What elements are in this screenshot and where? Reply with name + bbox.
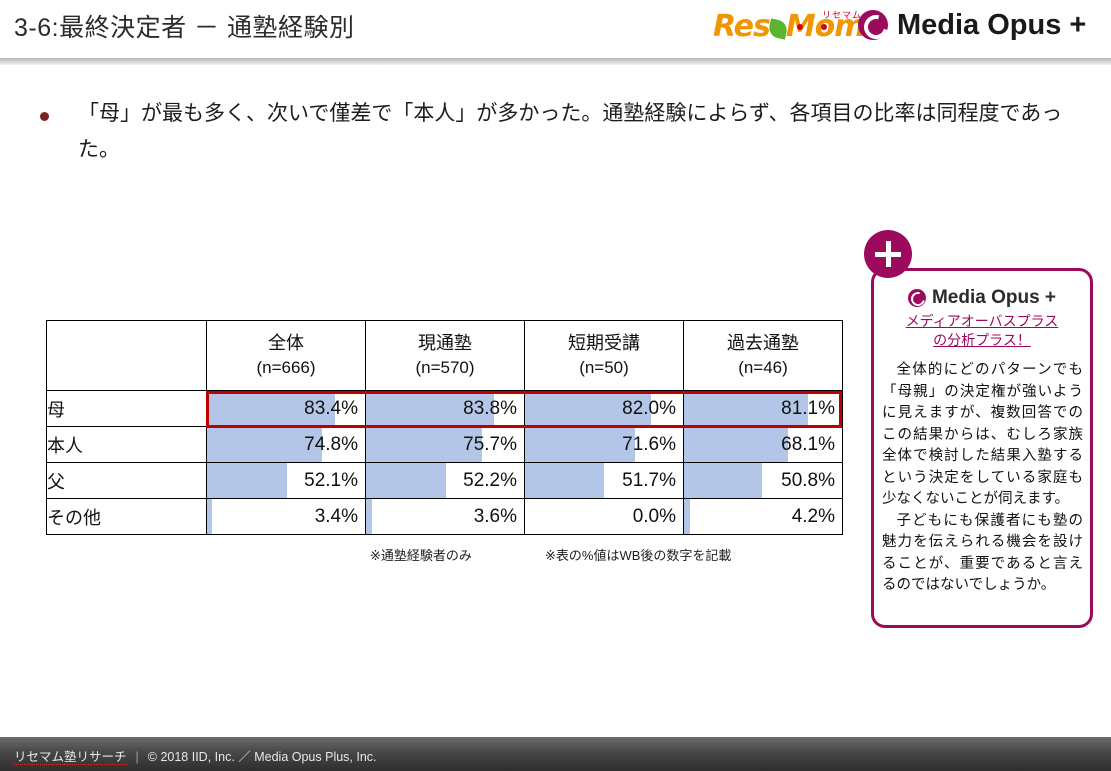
slide-root: 3-6:最終決定者 － 通塾経験別 ResMom リセマム Media Opus…	[0, 0, 1111, 771]
table-cell: 0.0%	[525, 499, 684, 535]
table-cell: 74.8%	[207, 427, 366, 463]
cell-value: 83.4%	[207, 392, 365, 425]
col-n: (n=666)	[207, 356, 365, 381]
cell-value: 81.1%	[684, 392, 842, 425]
resemom-logo-text: Res	[713, 9, 770, 44]
page-title: 3-6:最終決定者 － 通塾経験別	[14, 8, 354, 44]
footer-separator: |	[136, 750, 139, 764]
panel-paragraph-2: 子どもにも保護者にも塾の魅力を伝えられる機会を設けることが、重要であると言えるの…	[882, 511, 1083, 597]
table-cell: 3.4%	[207, 499, 366, 535]
cell-value: 75.7%	[366, 428, 524, 461]
col-label: 全体	[268, 333, 304, 353]
table-cell: 68.1%	[684, 427, 843, 463]
row-label: 本人	[47, 427, 207, 463]
table-cell: 3.6%	[366, 499, 525, 535]
footer-brand: リセマム塾リサーチ	[14, 750, 127, 765]
analysis-panel: Media Opus + メディアオーバスプラス の分析プラス！ 全体的にどのパ…	[871, 268, 1093, 628]
table-header-col-0: 全体 (n=666)	[207, 321, 366, 391]
table-header-col-1: 現通塾 (n=570)	[366, 321, 525, 391]
media-opus-logo: Media Opus +	[858, 10, 1086, 40]
table-header-col-2: 短期受講 (n=50)	[525, 321, 684, 391]
row-label: 父	[47, 463, 207, 499]
table-cell: 4.2%	[684, 499, 843, 535]
cell-value: 3.6%	[366, 500, 524, 533]
cell-value: 74.8%	[207, 428, 365, 461]
resemom-logo-text-2: M	[786, 9, 815, 44]
table-cell: 50.8%	[684, 463, 843, 499]
table-header-row: 全体 (n=666) 現通塾 (n=570) 短期受講 (n=50) 過去通塾 …	[47, 321, 843, 391]
table-note-2: ※表の%値はWB後の数字を記載	[545, 545, 731, 564]
table-row: その他 3.4% 3.6% 0.0% 4.2%	[47, 499, 843, 535]
panel-body: 全体的にどのパターンでも「母親」の決定権が強いように見えますが、複数回答でのこの…	[882, 360, 1083, 597]
col-label: 現通塾	[418, 333, 472, 353]
row-label: その他	[47, 499, 207, 535]
cell-value: 4.2%	[684, 500, 842, 533]
panel-link-line-2: の分析プラス！	[933, 332, 1031, 348]
panel-title: Media Opus +	[932, 287, 1056, 309]
table-cell: 75.7%	[366, 427, 525, 463]
cell-value: 82.0%	[525, 392, 683, 425]
footer-text: リセマム塾リサーチ|© 2018 IID, Inc. ／ Media Opus …	[14, 746, 377, 765]
footer-bar: リセマム塾リサーチ|© 2018 IID, Inc. ／ Media Opus …	[0, 737, 1111, 771]
table-cell: 71.6%	[525, 427, 684, 463]
col-label: 過去通塾	[727, 333, 799, 353]
header-divider	[0, 58, 1111, 65]
table-row: 父 52.1% 52.2% 51.7% 50.8%	[47, 463, 843, 499]
table-body: 母 83.4% 83.8% 82.0% 81.1% 本人 74.8% 75.7%…	[47, 391, 843, 535]
results-table: 全体 (n=666) 現通塾 (n=570) 短期受講 (n=50) 過去通塾 …	[46, 320, 843, 535]
table-cell: 83.8%	[366, 391, 525, 427]
cell-value: 50.8%	[684, 464, 842, 497]
col-label: 短期受講	[568, 333, 640, 353]
table-row: 母 83.4% 83.8% 82.0% 81.1%	[47, 391, 843, 427]
cell-value: 0.0%	[525, 500, 683, 533]
table-cell: 83.4%	[207, 391, 366, 427]
cell-value: 68.1%	[684, 428, 842, 461]
col-n: (n=570)	[366, 356, 524, 381]
cell-value: 52.2%	[366, 464, 524, 497]
table-note-1: ※通塾経験者のみ	[370, 545, 472, 564]
cell-value: 71.6%	[525, 428, 683, 461]
table-row: 本人 74.8% 75.7% 71.6% 68.1%	[47, 427, 843, 463]
panel-subtitle-link[interactable]: メディアオーバスプラス の分析プラス！	[874, 312, 1090, 350]
panel-link-line-1: メディアオーバスプラス	[906, 313, 1059, 329]
media-opus-mark-icon	[908, 289, 926, 307]
col-n: (n=50)	[525, 356, 683, 381]
table-cell: 51.7%	[525, 463, 684, 499]
table-corner-cell	[47, 321, 207, 391]
plus-badge-icon	[864, 230, 912, 278]
panel-header: Media Opus +	[874, 287, 1090, 309]
table-cell: 81.1%	[684, 391, 843, 427]
footer-copyright: © 2018 IID, Inc. ／ Media Opus Plus, Inc.	[148, 750, 377, 764]
media-opus-logo-text: Media Opus +	[897, 11, 1086, 40]
table-header-col-3: 過去通塾 (n=46)	[684, 321, 843, 391]
col-n: (n=46)	[684, 356, 842, 381]
bullet-text: 「母」が最も多く、次いで僅差で「本人」が多かった。通塾経験によらず、各項目の比率…	[78, 96, 1068, 168]
bullet-marker-icon	[40, 112, 49, 121]
resemom-kana: リセマム	[822, 8, 862, 21]
table-cell: 52.1%	[207, 463, 366, 499]
panel-paragraph-1: 全体的にどのパターンでも「母親」の決定権が強いように見えますが、複数回答でのこの…	[882, 360, 1083, 511]
row-label: 母	[47, 391, 207, 427]
table-cell: 82.0%	[525, 391, 684, 427]
table-cell: 52.2%	[366, 463, 525, 499]
cell-value: 83.8%	[366, 392, 524, 425]
cell-value: 51.7%	[525, 464, 683, 497]
cell-value: 52.1%	[207, 464, 365, 497]
media-opus-mark-icon	[858, 10, 888, 40]
page-title-text: 3-6:最終決定者 － 通塾経験別	[14, 14, 354, 42]
cell-value: 3.4%	[207, 500, 365, 533]
